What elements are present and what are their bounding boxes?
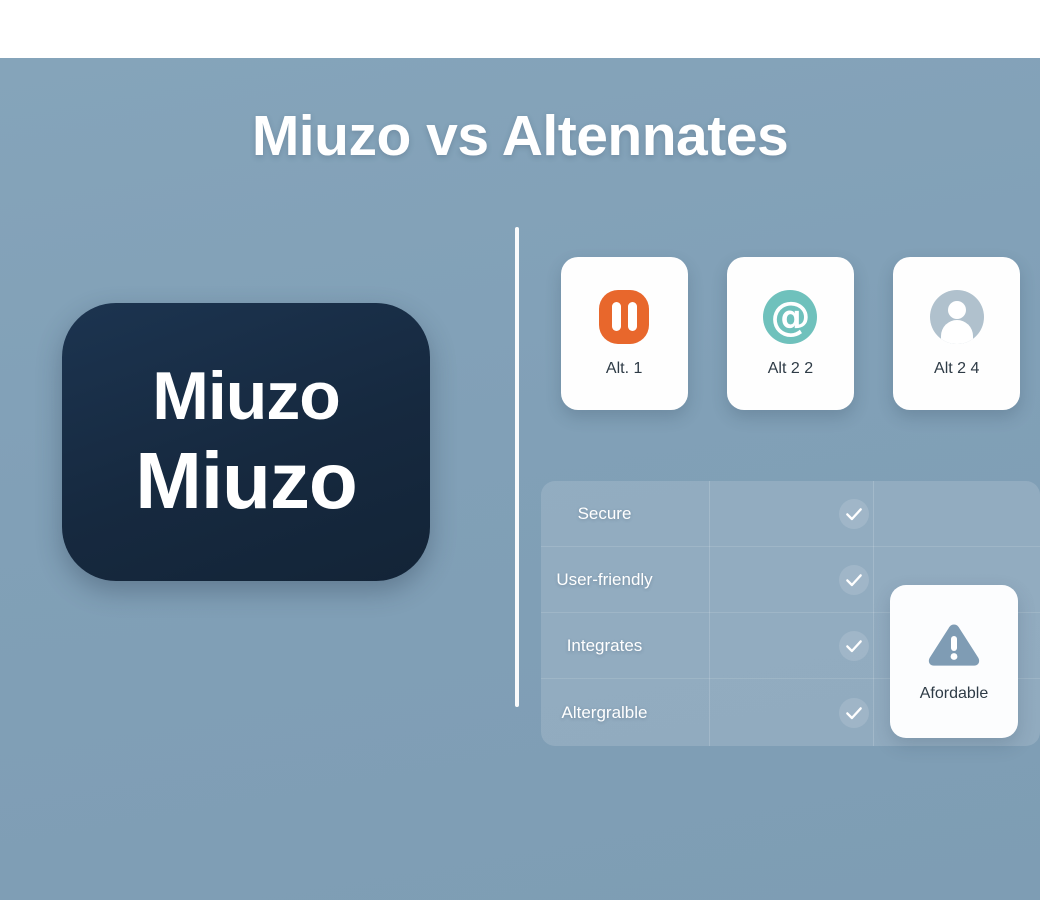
affordable-card-label: Afordable <box>920 685 989 703</box>
table-row: Secure <box>541 481 1040 547</box>
section-divider <box>515 227 519 707</box>
alt3-card[interactable]: Alt 2 4 <box>893 257 1020 410</box>
comparison-column-1: Alt. 1 <box>541 257 707 413</box>
page-title: Miuzo vs Altennates <box>0 108 1040 165</box>
comparison-header-row: Alt. 1 @ Alt 2 2 <box>541 257 1040 413</box>
infographic-canvas: Miuzo vs Altennates Miuzo Miuzo Alt. 1 <box>0 0 1040 900</box>
check-icon <box>839 698 869 728</box>
brand-name-secondary: Miuzo <box>135 439 357 523</box>
feature-cell-alt2 <box>792 499 916 529</box>
brand-badge: Miuzo Miuzo <box>62 303 430 581</box>
feature-label: Integrates <box>541 636 668 656</box>
check-icon <box>839 499 869 529</box>
alt1-card-label: Alt. 1 <box>606 360 642 378</box>
feature-label: User-friendly <box>541 570 668 590</box>
alt3-card-label: Alt 2 4 <box>934 360 979 378</box>
brand-name-primary: Miuzo <box>152 361 340 432</box>
affordable-card[interactable]: Afordable <box>890 585 1018 738</box>
feature-label: Altergralble <box>541 703 668 723</box>
comparison-column-2: @ Alt 2 2 <box>707 257 873 413</box>
alt1-card[interactable]: Alt. 1 <box>561 257 688 410</box>
alt2-card[interactable]: @ Alt 2 2 <box>727 257 854 410</box>
slide-background: Miuzo vs Altennates Miuzo Miuzo Alt. 1 <box>0 58 1040 900</box>
check-icon <box>839 565 869 595</box>
check-icon <box>839 631 869 661</box>
warning-triangle-icon <box>927 621 981 669</box>
comparison-column-3: Alt 2 4 <box>874 257 1040 413</box>
at-sign-icon: @ <box>763 290 817 344</box>
alt2-card-label: Alt 2 2 <box>768 360 813 378</box>
feature-label: Secure <box>541 504 668 524</box>
pause-icon <box>597 290 651 344</box>
user-avatar-icon <box>930 290 984 344</box>
